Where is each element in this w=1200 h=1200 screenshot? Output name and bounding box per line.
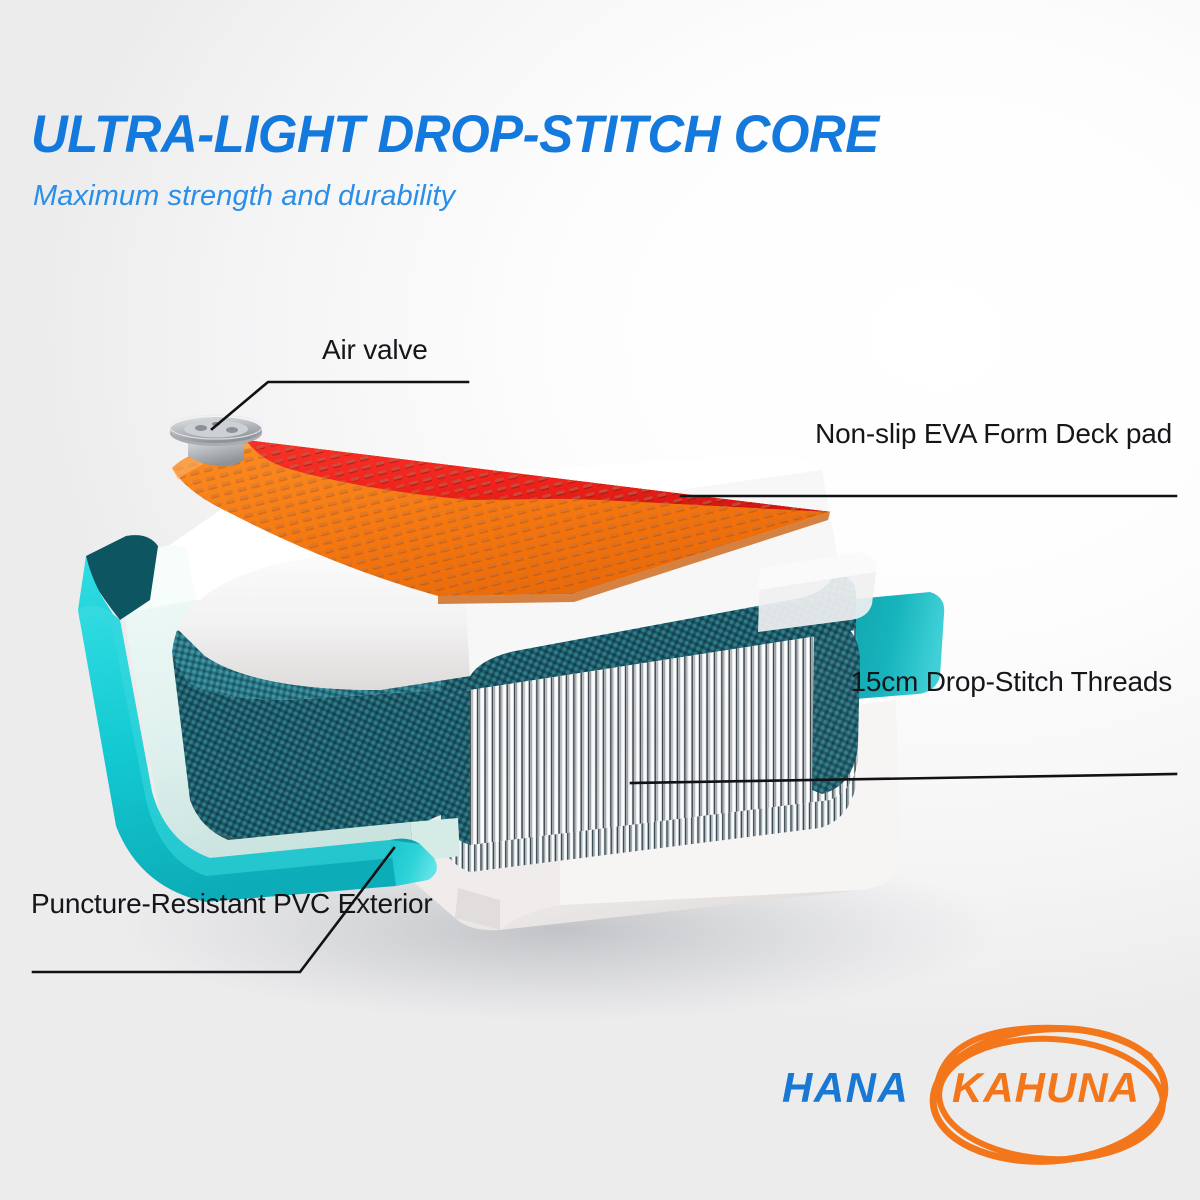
callout-drop-stitch-threads: 15cm Drop-Stitch Threads — [851, 666, 1172, 698]
logo-word-kahuna: KAHUNA — [952, 1064, 1140, 1112]
page-title: ULTRA-LIGHT DROP-STITCH CORE — [31, 108, 879, 161]
infographic-canvas: ULTRA-LIGHT DROP-STITCH CORE Maximum str… — [0, 0, 1200, 1200]
brand-logo[interactable]: HANA KAHUNA — [782, 1036, 1168, 1156]
logo-word-hana: HANA — [782, 1064, 909, 1112]
callout-air-valve: Air valve — [322, 334, 428, 366]
callout-pvc-exterior: Puncture-Resistant PVC Exterior — [31, 888, 433, 920]
callout-deck-pad: Non-slip EVA Form Deck pad — [815, 418, 1172, 450]
page-subtitle: Maximum strength and durability — [33, 180, 455, 213]
